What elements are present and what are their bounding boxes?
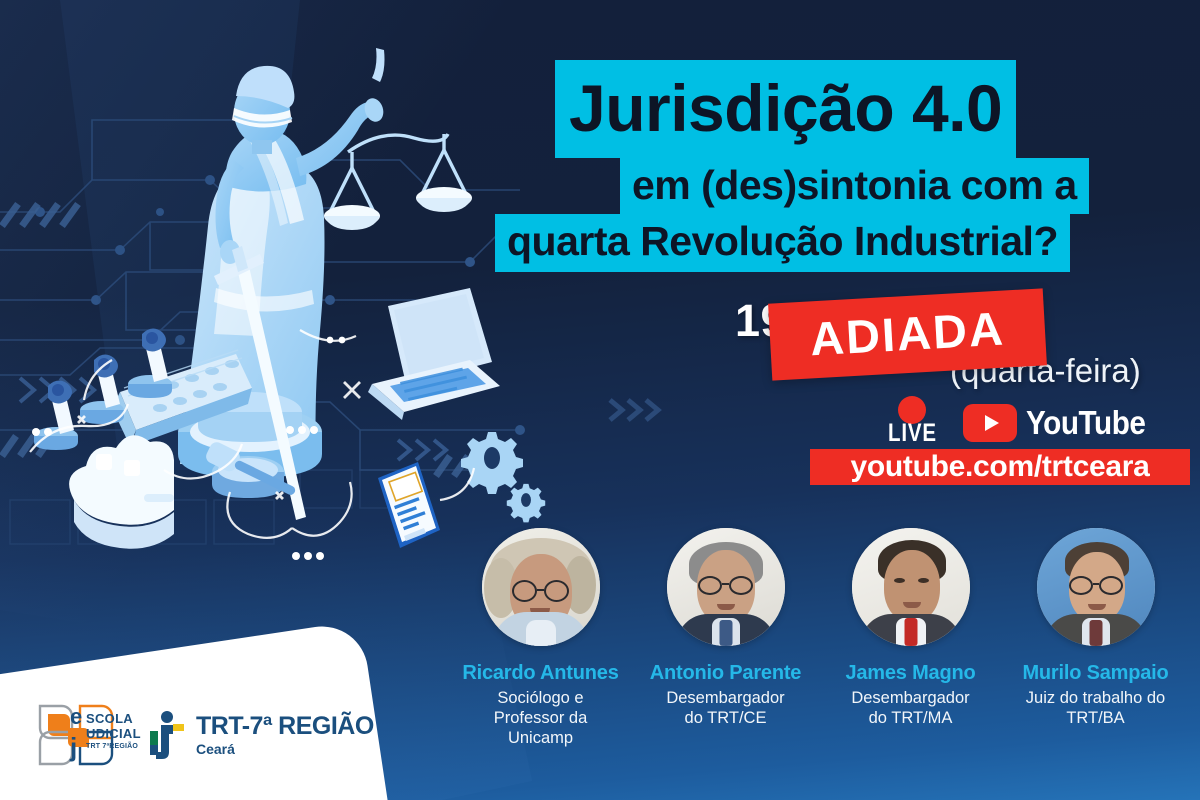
cloud-icon [69,435,174,548]
event-poster: Jurisdição 4.0 em (des)sintonia com a qu… [0,0,1200,800]
speaker-name: James Magno [845,662,975,685]
poster-title: Jurisdição 4.0 em (des)sintonia com a qu… [0,60,1200,272]
trt7-logo: TRT-7ª REGIÃO Ceará [144,709,374,761]
speaker-card: Ricardo Antunes Sociólogo e Professor da… [448,528,633,748]
youtube-wordmark: YouTube [1026,404,1145,442]
speakers-list: Ricardo Antunes Sociólogo e Professor da… [448,528,1190,748]
speaker-card: Antonio Parente Desembargador do TRT/CE [633,528,818,748]
speaker-photo-murilo-sampaio [1037,528,1155,646]
speaker-name: Ricardo Antunes [462,662,618,685]
escola-line-1: SCOLA [86,712,141,725]
speaker-role: Desembargador do TRT/MA [851,688,969,728]
trt7-wordmark: TRT-7ª REGIÃO Ceará [196,714,374,756]
youtube-url-link[interactable]: youtube.com/trtceara [810,449,1190,485]
gears-icon [461,432,545,522]
escola-line-2: UDICIAL [86,727,141,740]
live-label: LIVE [888,419,937,448]
speaker-photo-james-magno [852,528,970,646]
speaker-photo-antonio-parente [667,528,785,646]
youtube-logo[interactable]: YouTube [963,404,1159,442]
youtube-play-icon [963,404,1017,442]
speaker-photo-ricardo-antunes [482,528,600,646]
svg-text:j: j [69,732,77,762]
escola-judicial-logo: e j SCOLA UDICIAL TRT 7ªREGIÃO [34,698,122,772]
speaker-card: Murilo Sampaio Juiz do trabalho do TRT/B… [1003,528,1188,748]
title-line-2: em (des)sintonia com a [620,158,1089,214]
speaker-role: Juiz do trabalho do TRT/BA [1026,688,1165,728]
speaker-name: Murilo Sampaio [1022,662,1168,685]
postponed-stamp: ADIADA [768,288,1047,380]
escola-line-3: TRT 7ªREGIÃO [86,743,141,750]
trt7-mark-icon [144,709,186,761]
laptop-icon [368,288,500,420]
title-line-3: quarta Revolução Industrial? [495,214,1070,272]
svg-text:e: e [70,704,82,729]
escola-judicial-wordmark: SCOLA UDICIAL TRT 7ªREGIÃO [86,712,141,750]
speaker-card: James Magno Desembargador do TRT/MA [818,528,1003,748]
speaker-role: Sociólogo e Professor da Unicamp [494,688,588,748]
smartphone-icon [378,462,440,548]
logo-row: e j SCOLA UDICIAL TRT 7ªREGIÃO [34,698,374,772]
trt7-line-1: TRT-7ª REGIÃO [196,714,374,739]
speaker-name: Antonio Parente [650,662,801,685]
title-line-1: Jurisdição 4.0 [555,60,1016,158]
speaker-role: Desembargador do TRT/CE [666,688,784,728]
trt7-line-2: Ceará [196,742,374,756]
